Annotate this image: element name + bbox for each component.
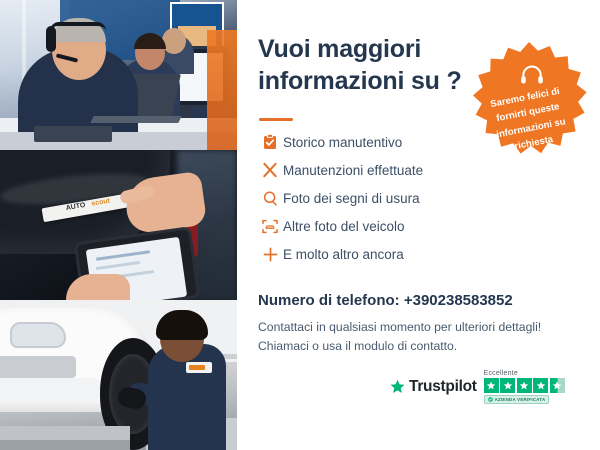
uniform-logo: [186, 362, 212, 373]
star-filled: [517, 378, 532, 393]
phone-line: Numero di telefono: +390238583852: [258, 292, 513, 309]
star-half: [550, 378, 565, 393]
feature-item-manutenzioni-effettuate: Manutenzioni effettuate: [257, 156, 517, 184]
feature-label: E molto altro ancora: [283, 247, 404, 262]
feature-label: Foto dei segni di usura: [283, 191, 420, 206]
star-filled: [484, 378, 499, 393]
photo-tire-service-workshop: [0, 300, 237, 450]
headset-band: [50, 22, 106, 31]
feature-item-storico-manutentivo: Storico manutentivo: [257, 128, 517, 156]
verified-company-badge: AZIENDA VERIFICATA: [484, 395, 550, 404]
feature-list: Storico manutentivo Manutenzioni effettu…: [257, 128, 517, 268]
car-lift-ramp: [0, 426, 130, 440]
accent-divider: [259, 118, 293, 121]
feature-item-foto-segni-usura: Foto dei segni di usura: [257, 184, 517, 212]
trustpilot-brand-name: Trustpilot: [409, 378, 477, 396]
feature-label: Altre foto del veicolo: [283, 219, 405, 234]
trustpilot-widget[interactable]: Trustpilot Eccellente AZIENDA VERIFIC: [389, 370, 565, 404]
background-agent-3-head: [162, 28, 186, 54]
orange-panel: [207, 30, 237, 150]
trustpilot-rating: Eccellente AZIENDA VERIFICATA: [484, 370, 565, 404]
headset-icon: [520, 64, 544, 86]
vehicle-info-advertisement: Vuoi maggiori informazioni su ? Saremo f…: [0, 0, 600, 450]
clipboard-check-icon: [257, 134, 283, 150]
star-filled: [533, 378, 548, 393]
phone-number[interactable]: +390238583852: [404, 292, 513, 309]
trustpilot-rating-label: Eccellente: [484, 370, 518, 377]
car-frame-scan-icon: [257, 219, 283, 234]
contact-subtext: Contattaci in qualsiasi momento per ulte…: [258, 318, 541, 355]
contact-subtext-line-1: Contattaci in qualsiasi momento per ulte…: [258, 318, 541, 337]
feature-item-molto-altro: E molto altro ancora: [257, 240, 517, 268]
page-title: Vuoi maggiori informazioni su ?: [258, 34, 488, 97]
photo-column: [0, 0, 237, 450]
verified-check-icon: [488, 397, 493, 402]
star-filled: [500, 378, 515, 393]
keyboard: [34, 126, 112, 142]
photo-vehicle-inspection-tablet: [0, 150, 237, 300]
trustpilot-stars: [484, 378, 565, 393]
wrench-screwdriver-icon: [257, 162, 283, 178]
contact-subtext-line-2: Chiamaci o usa il modulo di contatto.: [258, 337, 541, 356]
car-headlight: [10, 322, 66, 348]
car-lift-base: [0, 440, 130, 450]
verified-badge-text: AZIENDA VERIFICATA: [495, 397, 546, 402]
hand-holding-tablet: [66, 274, 130, 300]
trustpilot-logo: Trustpilot: [389, 378, 477, 396]
plus-icon: [257, 247, 283, 262]
photo-call-center-agents-with-headsets: [0, 0, 237, 150]
car-bumper: [0, 378, 100, 400]
feature-item-altre-foto-veicolo: Altre foto del veicolo: [257, 212, 517, 240]
feature-label: Manutenzioni effettuate: [283, 163, 423, 178]
content-panel: Vuoi maggiori informazioni su ? Saremo f…: [237, 0, 600, 450]
magnifier-icon: [257, 191, 283, 206]
trustpilot-star-icon: [389, 379, 406, 396]
laptop-base: [90, 116, 181, 123]
car-grille: [0, 356, 76, 378]
feature-label: Storico manutentivo: [283, 135, 402, 150]
phone-label: Numero di telefono:: [258, 292, 400, 309]
